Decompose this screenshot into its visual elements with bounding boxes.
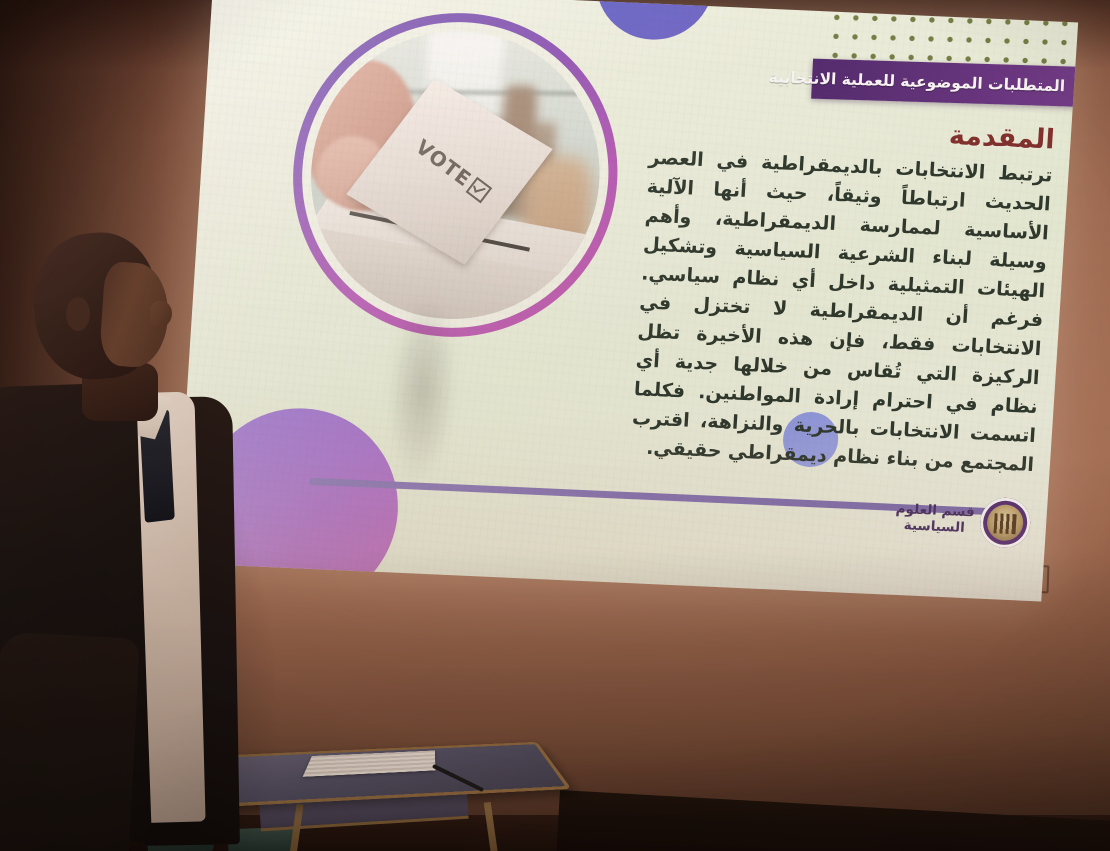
projected-slide: VOTE المتطلبات الموضوعية للعملية الانتخا…: [176, 0, 1078, 601]
slide-header-banner-text: المتطلبات الموضوعية للعملية الانتخابية: [768, 68, 1065, 95]
department-logo-text: قسم العلوم السياسية: [894, 502, 975, 537]
presenter-ear: [66, 297, 90, 331]
slide-text-column: المقدمة ترتبط الانتخابات بالديمقراطية في…: [629, 108, 1055, 481]
university-emblem-icon: [979, 497, 1032, 549]
slide-body-text: ترتبط الانتخابات بالديمقراطية في العصر ا…: [629, 143, 1053, 480]
photo-gradient-ring: VOTE: [283, 6, 627, 344]
decor-circle-blue-top: [592, 0, 717, 42]
ballot-photo: VOTE: [302, 25, 608, 325]
department-logo-line2: السياسية: [894, 518, 974, 537]
slide-header-banner: المتطلبات الموضوعية للعملية الانتخابية: [811, 59, 1078, 107]
presenter-figure: [0, 215, 280, 851]
screenshot-root: VOTE المتطلبات الموضوعية للعملية الانتخا…: [0, 0, 1110, 851]
wall-smudge: [382, 292, 464, 485]
presenter-arm: [0, 631, 140, 851]
slide-canvas: VOTE المتطلبات الموضوعية للعملية الانتخا…: [176, 0, 1078, 601]
emblem-inner: [986, 504, 1024, 542]
presenter-nose: [150, 301, 172, 327]
department-logo: قسم العلوم السياسية: [894, 493, 1032, 549]
desk-leg-right: [484, 802, 500, 851]
